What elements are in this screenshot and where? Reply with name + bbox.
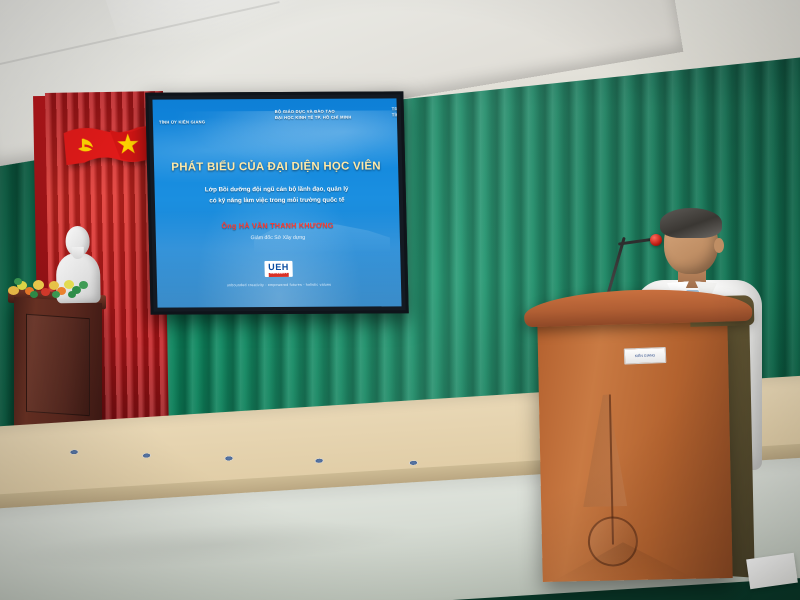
flower [52,291,60,298]
screen-display: TỈNH ỦY KIÊN GIANG BỘ GIÁO DỤC VÀ ĐÀO TẠ… [152,98,401,307]
slide-speaker-role: Giám đốc Sở Xây dựng [156,234,400,241]
pedestal-panel [26,314,90,416]
speaker-hair [660,208,722,238]
slide-header: TỈNH ỦY KIÊN GIANG BỘ GIÁO DỤC VÀ ĐÀO TẠ… [153,103,398,130]
floor-marker-dot [142,453,151,459]
ceiling-sheen [93,0,416,76]
flower [14,278,22,285]
flower [68,291,76,298]
podium-nameplate: KIÊN GIANG [624,347,667,365]
ueh-logo: UEH UNIVERSITY [156,260,400,280]
flower [41,288,50,296]
floor-marker-dot [315,458,324,464]
stage-front-scuff [2,512,424,578]
slide-subtitle-line1: Lớp Bồi dưỡng đội ngũ cán bộ lãnh đạo, q… [205,186,349,194]
speaker-ear [714,238,724,253]
slide-header-center-line2: ĐẠI HỌC KINH TẾ TP. HỒ CHÍ MINH [275,114,352,120]
ueh-logo-text: UEH [268,262,289,272]
ueh-logo-mark: UEH UNIVERSITY [264,261,293,277]
podium-emblem-v [581,394,627,507]
projection-screen: TỈNH ỦY KIÊN GIANG BỘ GIÁO DỤC VÀ ĐÀO TẠ… [145,91,408,314]
podium: KIÊN GIANG [537,316,732,582]
floor-marker-dot [409,460,418,466]
ueh-logo-subtext: UNIVERSITY [268,273,289,277]
podium-emblem-triangle [548,541,699,584]
podium-carved-emblem [553,393,677,565]
floor-marker-dot [224,456,233,462]
slide-header-right-line2: TỈNH KIÊN GIANG [392,112,402,118]
conference-hall-photo: TỈNH ỦY KIÊN GIANG BỘ GIÁO DỤC VÀ ĐÀO TẠ… [0,0,800,600]
paper-on-floor [746,553,798,589]
party-flag-icon [61,121,158,171]
microphone-icon [650,234,662,246]
slide-subtitle: Lớp Bồi dưỡng đội ngũ cán bộ lãnh đạo, q… [155,184,400,207]
slide-header-left: TỈNH ỦY KIÊN GIANG [159,119,205,125]
slide-speaker-name: Ông HÀ VĂN THANH KHƯƠNG [155,220,399,230]
floor-marker-dot [70,449,79,455]
presentation-slide: TỈNH ỦY KIÊN GIANG BỘ GIÁO DỤC VÀ ĐÀO TẠ… [152,98,401,307]
ueh-tagline: unbounded creativity - empowered futures… [157,282,401,287]
flower-arrangement [6,276,92,306]
slide-subtitle-line2: có kỹ năng làm việc trong môi trường quố… [209,196,344,204]
flower [30,291,38,298]
flower [79,281,88,289]
slide-title: PHÁT BIỂU CỦA ĐẠI DIỆN HỌC VIÊN [154,160,398,173]
